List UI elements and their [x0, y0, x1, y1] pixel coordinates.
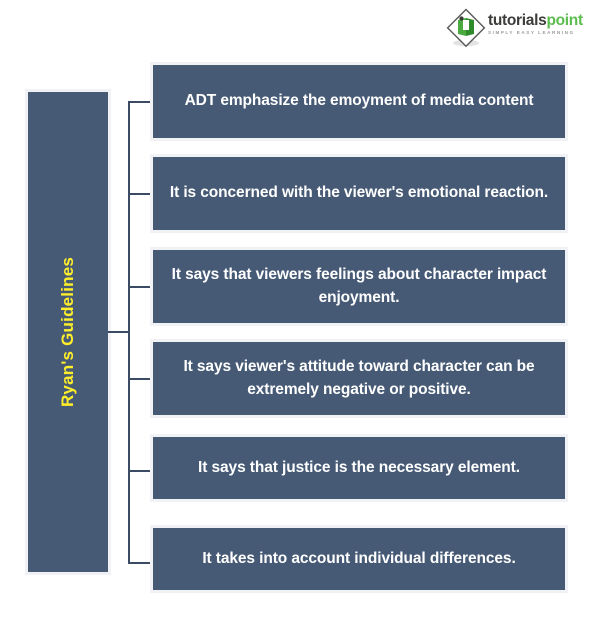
node-label-2: It is concerned with the viewer's emotio… — [170, 182, 548, 204]
connector-stub-3 — [128, 286, 154, 288]
connector-stub-6 — [128, 562, 154, 564]
connector-stub-2 — [128, 193, 154, 195]
node-label-3: It says that viewers feelings about char… — [163, 264, 555, 309]
root-node-label: Ryan's Guidelines — [58, 257, 78, 407]
node-box-4: It says viewer's attitude toward charact… — [153, 342, 565, 415]
connector-stub-5 — [128, 470, 154, 472]
tutorialspoint-diamond-icon — [446, 8, 486, 48]
wordmark-tagline: SIMPLY EASY LEARNING — [488, 29, 594, 37]
node-label-6: It takes into account individual differe… — [202, 548, 515, 570]
node-label-4: It says viewer's attitude toward charact… — [163, 356, 555, 401]
wordmark-point: point — [546, 12, 582, 29]
connector-root-to-trunk — [108, 331, 130, 333]
wordmark-text: tutorialspoint — [488, 13, 594, 29]
connector-trunk-line — [128, 101, 130, 563]
root-node-ryans-guidelines: Ryan's Guidelines — [28, 92, 108, 572]
node-box-6: It takes into account individual differe… — [153, 528, 565, 590]
node-box-3: It says that viewers feelings about char… — [153, 250, 565, 323]
node-box-5: It says that justice is the necessary el… — [153, 437, 565, 499]
tutorialspoint-logo: tutorialspoint SIMPLY EASY LEARNING — [446, 6, 594, 50]
wordmark-tutorials: tutorials — [488, 12, 546, 29]
connector-stub-1 — [128, 101, 154, 103]
node-label-5: It says that justice is the necessary el… — [198, 457, 520, 479]
tutorialspoint-wordmark: tutorialspoint SIMPLY EASY LEARNING — [488, 13, 594, 37]
connector-stub-4 — [128, 378, 154, 380]
node-box-2: It is concerned with the viewer's emotio… — [153, 157, 565, 230]
node-label-1: ADT emphasize the emoyment of media cont… — [185, 90, 534, 112]
node-box-1: ADT emphasize the emoyment of media cont… — [153, 65, 565, 138]
